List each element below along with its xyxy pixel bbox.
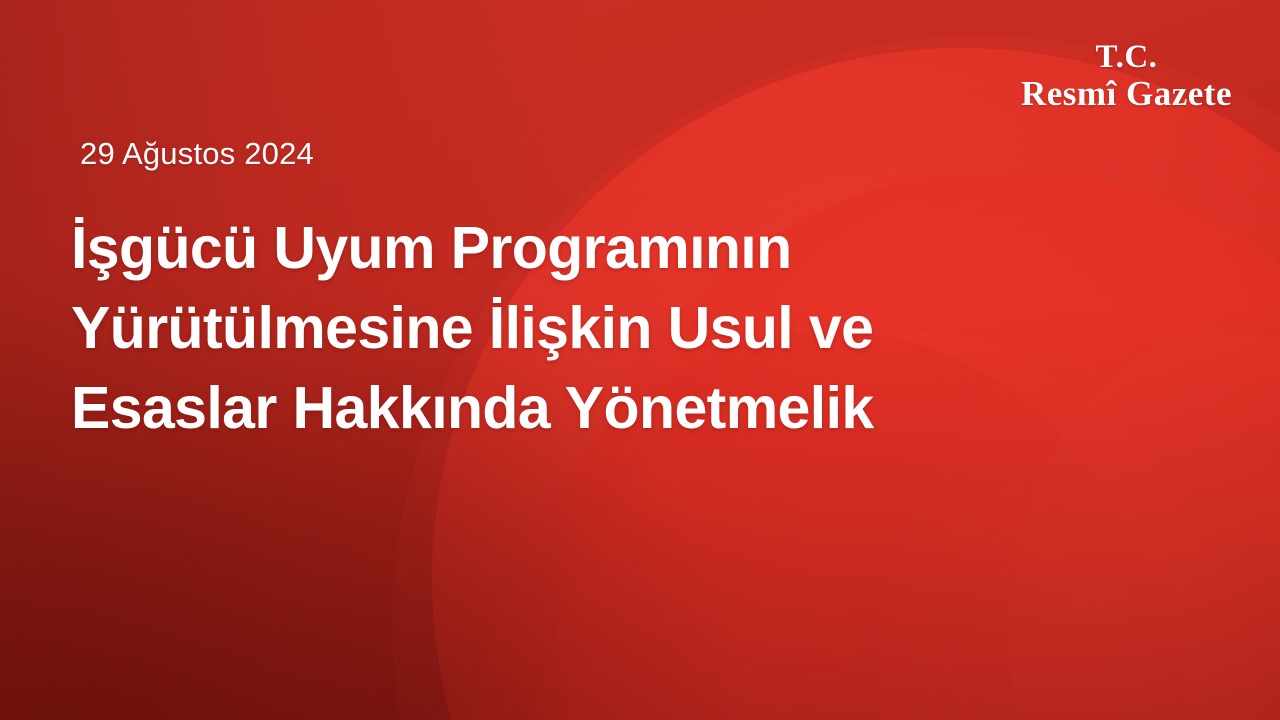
headline-line-1: İşgücü Uyum Programının xyxy=(71,208,1031,288)
masthead-line-resmi-gazete: Resmî Gazete xyxy=(1021,75,1232,112)
headline-line-3: Esaslar Hakkında Yönetmelik xyxy=(71,368,1031,448)
headline-line-2: Yürütülmesine İlişkin Usul ve xyxy=(71,288,1031,368)
masthead-logo: T.C. Resmî Gazete xyxy=(1021,40,1232,112)
publication-date: 29 Ağustos 2024 xyxy=(80,136,314,172)
masthead-line-tc: T.C. xyxy=(1021,40,1232,75)
resmi-gazete-announcement-card: T.C. Resmî Gazete 29 Ağustos 2024 İşgücü… xyxy=(0,0,1280,720)
article-headline: İşgücü Uyum Programının Yürütülmesine İl… xyxy=(71,208,1031,448)
